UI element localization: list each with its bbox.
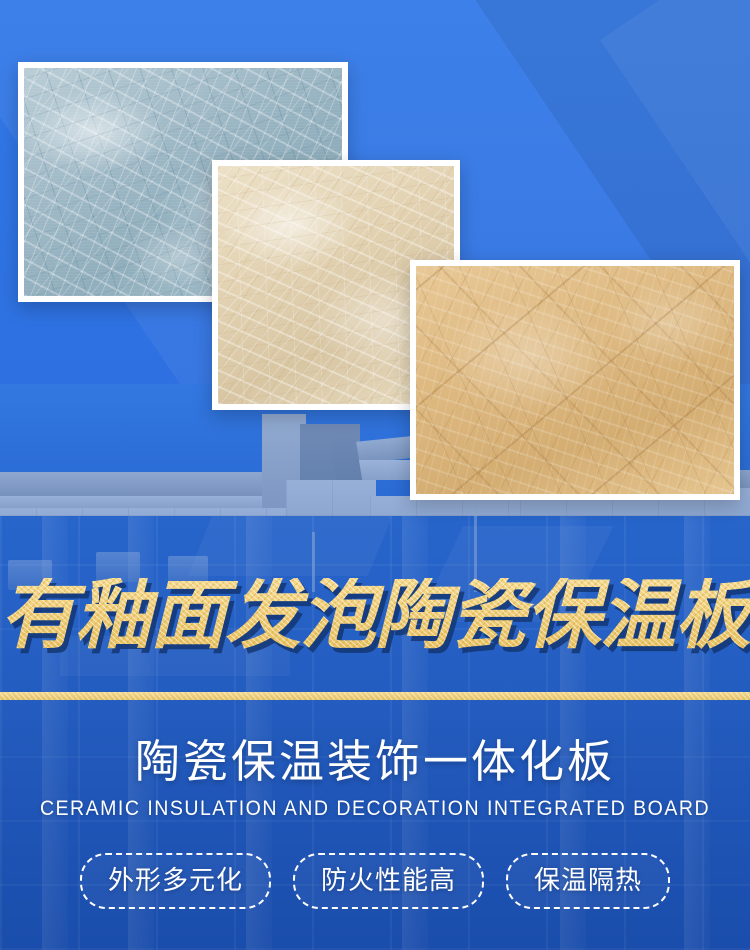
product-banner: 有釉面发泡陶瓷保温板 陶瓷保温装饰一体化板 CERAMIC INSULATION… bbox=[0, 0, 750, 950]
feature-badge-fire-resistance[interactable]: 防火性能高 bbox=[293, 853, 484, 909]
subtitle-english: CERAMIC INSULATION AND DECORATION INTEGR… bbox=[26, 796, 724, 821]
subtitle-chinese: 陶瓷保温装饰一体化板 bbox=[0, 735, 750, 788]
tile-sample-golden-marble[interactable] bbox=[410, 260, 740, 500]
feature-badge-thermal-insulation[interactable]: 保温隔热 bbox=[506, 853, 670, 909]
tile-texture-golden-marble bbox=[416, 266, 734, 494]
feature-badge-shape-variety[interactable]: 外形多元化 bbox=[80, 853, 271, 909]
feature-badge-group: 外形多元化 防火性能高 保温隔热 bbox=[0, 853, 750, 909]
page-title: 有釉面发泡陶瓷保温板 bbox=[0, 578, 750, 654]
gold-divider-rule bbox=[0, 692, 750, 700]
